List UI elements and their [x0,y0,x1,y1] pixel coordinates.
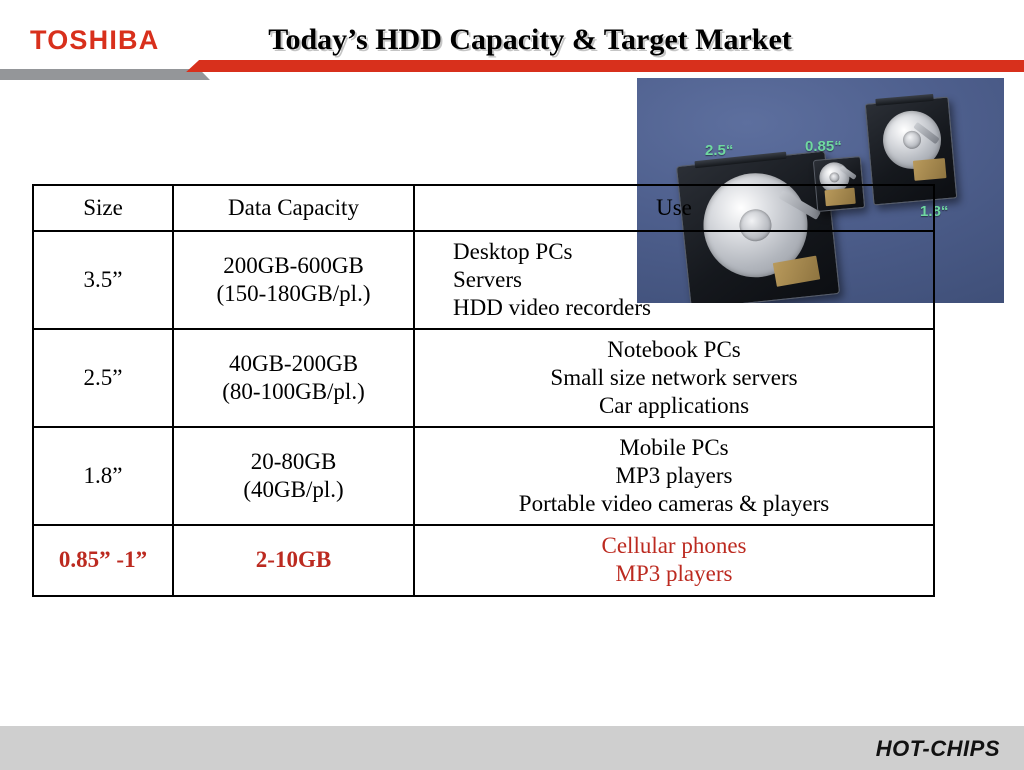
cell-use-line: Small size network servers [425,364,923,392]
table-row: 1.8” 20-80GB (40GB/pl.) Mobile PCs MP3 p… [33,427,934,525]
photo-label-0-85: 0.85“ [805,138,842,155]
toshiba-logo: TOSHIBA [30,27,159,54]
cell-capacity: 200GB-600GB (150-180GB/pl.) [173,231,414,329]
table-header-capacity: Data Capacity [173,185,414,231]
cell-capacity-main: 20-80GB [184,448,403,476]
cell-capacity: 40GB-200GB (80-100GB/pl.) [173,329,414,427]
cell-use: Desktop PCs Servers HDD video recorders [414,231,934,329]
cell-size: 0.85” -1” [33,525,173,595]
hdd-spec-table: Size Data Capacity Use 3.5” 200GB-600GB … [32,184,935,597]
table-row: 3.5” 200GB-600GB (150-180GB/pl.) Desktop… [33,231,934,329]
header-red-stripe [205,60,1024,72]
cell-use-line: Car applications [425,392,923,420]
table-header-use: Use [414,185,934,231]
cell-use-line: MP3 players [425,462,923,490]
cell-capacity-main: 200GB-600GB [184,252,403,280]
cell-capacity-sub: (150-180GB/pl.) [184,280,403,308]
cell-use-line: Desktop PCs [453,238,923,266]
table-header-capacity-label: Data Capacity [174,190,413,226]
cell-capacity-main: 2-10GB [174,540,413,580]
table-header-size: Size [33,185,173,231]
cell-use-line: Servers [453,266,923,294]
header-gray-stripe [0,69,196,80]
cell-capacity-sub: (40GB/pl.) [184,476,403,504]
cell-use: Mobile PCs MP3 players Portable video ca… [414,427,934,525]
cell-capacity-sub: (80-100GB/pl.) [184,378,403,406]
table-row: 2.5” 40GB-200GB (80-100GB/pl.) Notebook … [33,329,934,427]
cell-capacity: 2-10GB [173,525,414,595]
cell-use-line: Portable video cameras & players [425,490,923,518]
cell-size-value: 3.5” [34,260,172,300]
table-header-use-label: Use [415,190,933,226]
drive-connector [875,94,933,106]
cell-capacity: 20-80GB (40GB/pl.) [173,427,414,525]
table-row-highlight: 0.85” -1” 2-10GB Cellular phones MP3 pla… [33,525,934,595]
cell-size: 1.8” [33,427,173,525]
cell-use-line: Mobile PCs [425,434,923,462]
cell-use: Notebook PCs Small size network servers … [414,329,934,427]
cell-size: 2.5” [33,329,173,427]
cell-size: 3.5” [33,231,173,329]
cell-use-line: Cellular phones [425,532,923,560]
cell-size-value: 0.85” -1” [34,540,172,580]
page-title: Today’s HDD Capacity & Target Market [180,23,880,56]
cell-use-line: HDD video recorders [453,294,923,322]
footer-conference-label: HOT-CHIPS [876,736,1000,762]
cell-use: Cellular phones MP3 players [414,525,934,595]
cell-size-value: 2.5” [34,358,172,398]
table-header-size-label: Size [34,190,172,226]
cell-use-line: Notebook PCs [425,336,923,364]
cell-capacity-main: 40GB-200GB [184,350,403,378]
slide-header: TOSHIBA Today’s HDD Capacity & Target Ma… [0,0,1024,82]
slide-footer: HOT-CHIPS [0,726,1024,770]
cell-size-value: 1.8” [34,456,172,496]
drive-pcb [913,158,947,181]
table-header-row: Size Data Capacity Use [33,185,934,231]
cell-use-line: MP3 players [425,560,923,588]
photo-label-2-5: 2.5“ [705,142,733,159]
